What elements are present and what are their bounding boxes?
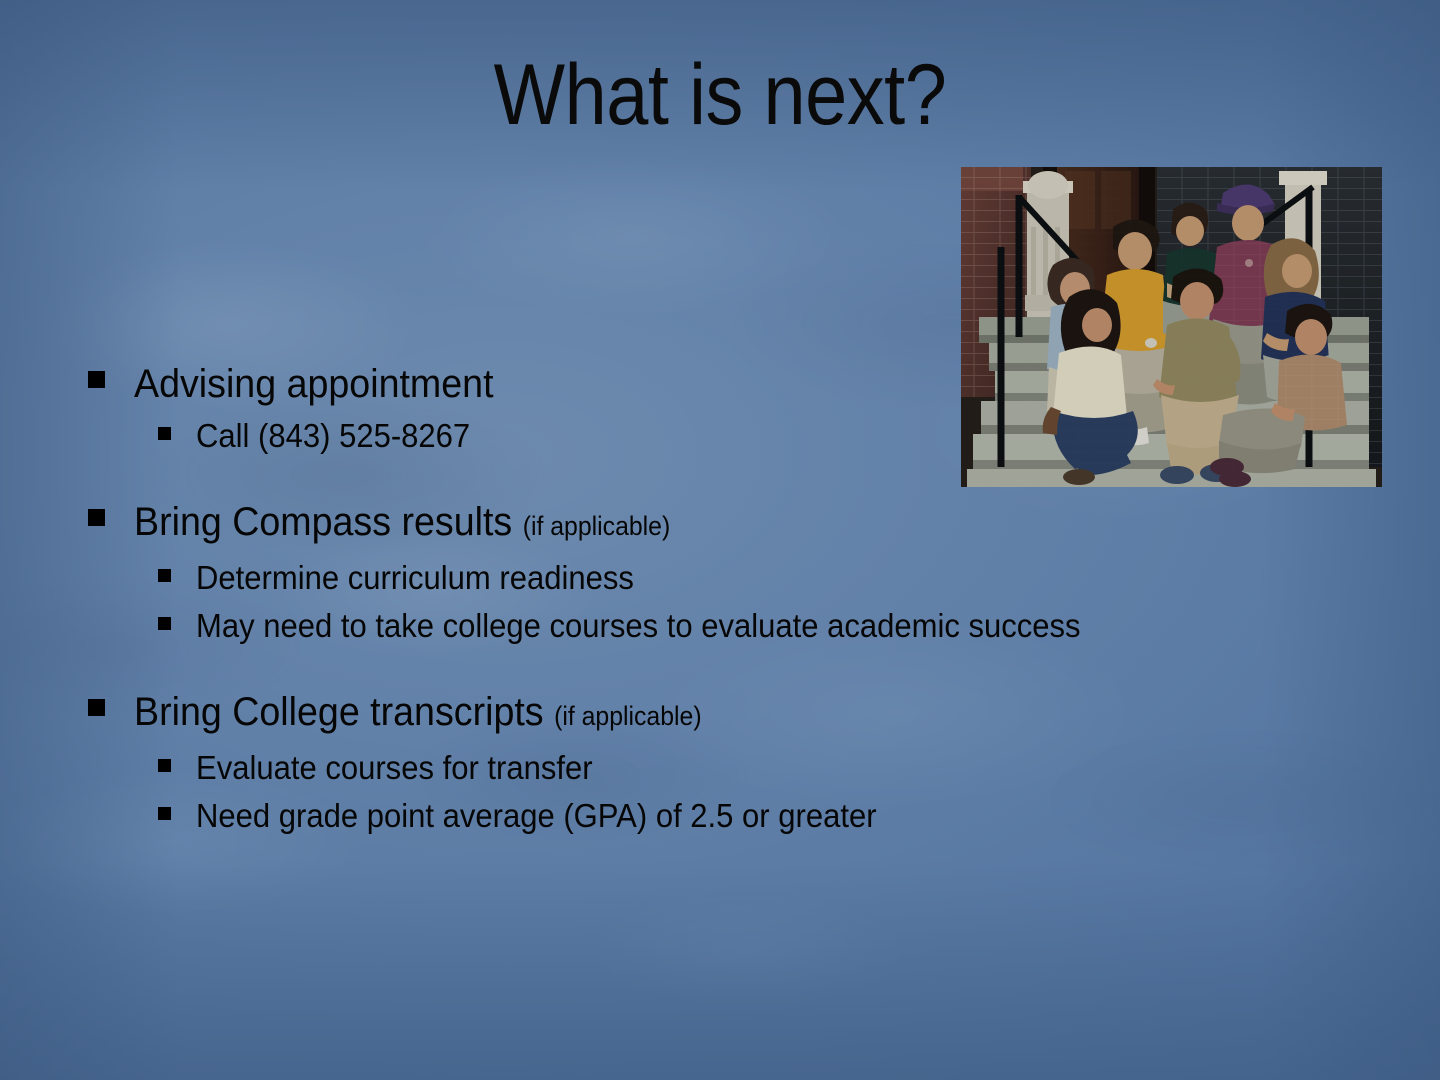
bullet-level2-label: Evaluate courses for transfer — [196, 744, 593, 792]
bullet-level1: Bring College transcripts (if applicable… — [88, 686, 1378, 742]
square-subbullet-icon — [158, 807, 171, 820]
square-bullet-icon — [88, 699, 105, 716]
bullet-level1: Bring Compass results (if applicable) — [88, 496, 1378, 552]
square-bullet-icon — [88, 509, 105, 526]
square-subbullet-icon — [158, 759, 171, 772]
bullet-level2-label: Call (843) 525-8267 — [196, 412, 470, 460]
square-subbullet-icon — [158, 617, 171, 630]
square-bullet-icon — [88, 371, 105, 388]
bullet-level1-note: (if applicable) — [523, 511, 671, 541]
bullet-level2-label: Determine curriculum readiness — [196, 554, 634, 602]
square-subbullet-icon — [158, 569, 171, 582]
bullet-level1-label: Bring College transcripts — [134, 690, 544, 734]
square-subbullet-icon — [158, 427, 171, 440]
bullet-level2: Need grade point average (GPA) of 2.5 or… — [88, 792, 1378, 840]
bullet-level1-note: (if applicable) — [554, 701, 702, 731]
presentation-slide: What is next? Advising appointment Call … — [0, 0, 1440, 1080]
bullet-group: Bring Compass results (if applicable) De… — [88, 496, 1378, 650]
bullet-level2-label: May need to take college courses to eval… — [196, 602, 1081, 650]
bullet-level2-label: Need grade point average (GPA) of 2.5 or… — [196, 792, 877, 840]
bullet-level2: May need to take college courses to eval… — [88, 602, 1378, 650]
bullet-level1-label: Advising appointment — [134, 362, 494, 406]
slide-title: What is next? — [86, 52, 1353, 138]
bullet-level1-label: Bring Compass results — [134, 500, 512, 544]
students-on-steps-photo — [961, 167, 1382, 487]
bullet-level2: Evaluate courses for transfer — [88, 744, 1378, 792]
bullet-group: Bring College transcripts (if applicable… — [88, 686, 1378, 840]
bullet-level2: Determine curriculum readiness — [88, 554, 1378, 602]
